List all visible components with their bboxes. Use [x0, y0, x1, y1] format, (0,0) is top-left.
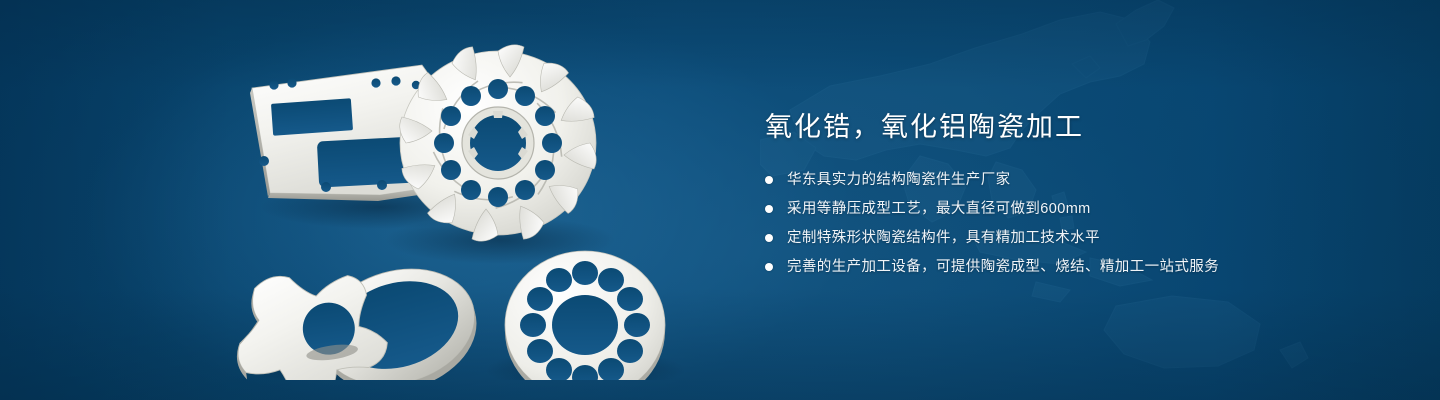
bullet-dot-icon [765, 176, 773, 184]
bullet-dot-icon [765, 263, 773, 271]
bullet-dot-icon [765, 205, 773, 213]
hero-banner: 氧化锆，氧化铝陶瓷加工 华东具实力的结构陶瓷件生产厂家 采用等静压成型工艺，最大… [0, 0, 1440, 400]
bullet-dot-icon [765, 234, 773, 242]
feature-text: 定制特殊形状陶瓷结构件，具有精加工技术水平 [787, 228, 1100, 248]
feature-text: 采用等静压成型工艺，最大直径可做到600mm [787, 199, 1091, 219]
list-item: 采用等静压成型工艺，最大直径可做到600mm [765, 199, 1385, 219]
feature-list: 华东具实力的结构陶瓷件生产厂家 采用等静压成型工艺，最大直径可做到600mm 定… [765, 170, 1385, 277]
product-ceramic-impeller [400, 45, 597, 242]
list-item: 华东具实力的结构陶瓷件生产厂家 [765, 170, 1385, 190]
feature-text: 完善的生产加工设备，可提供陶瓷成型、烧结、精加工一站式服务 [787, 257, 1219, 277]
list-item: 定制特殊形状陶瓷结构件，具有精加工技术水平 [765, 228, 1385, 248]
banner-copy: 氧化锆，氧化铝陶瓷加工 华东具实力的结构陶瓷件生产厂家 采用等静压成型工艺，最大… [765, 110, 1385, 286]
list-item: 完善的生产加工设备，可提供陶瓷成型、烧结、精加工一站式服务 [765, 257, 1385, 277]
product-photo-group [230, 35, 730, 380]
feature-text: 华东具实力的结构陶瓷件生产厂家 [787, 170, 1011, 190]
product-ceramic-perforated-disc [505, 251, 665, 380]
page-title: 氧化锆，氧化铝陶瓷加工 [765, 110, 1385, 144]
